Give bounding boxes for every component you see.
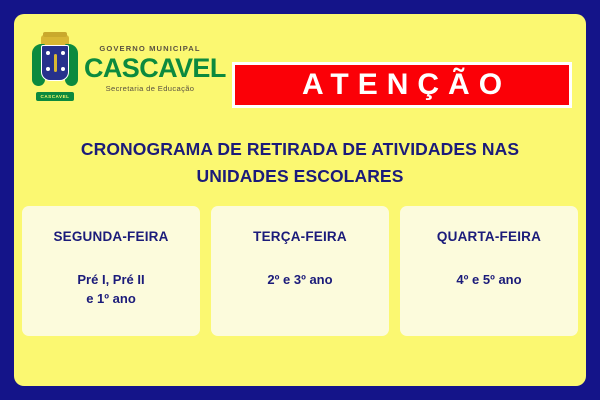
crest-ribbon-label: CASCAVEL (36, 92, 74, 101)
star-icon (46, 51, 50, 55)
schedule-cards-row: SEGUNDA-FEIRA Pré I, Pré II e 1º ano TER… (22, 206, 578, 336)
schedule-card-detail: 2º e 3º ano (217, 270, 383, 289)
brand-text: GOVERNO MUNICIPAL CASCAVEL Secretaria de… (84, 43, 216, 94)
page-title: CRONOGRAMA DE RETIRADA DE ATIVIDADES NAS… (14, 136, 586, 190)
schedule-card-day: QUARTA-FEIRA (406, 228, 572, 246)
schedule-card-quarta-feira: QUARTA-FEIRA 4º e 5º ano (400, 206, 578, 336)
star-icon (61, 51, 65, 55)
cascavel-coat-of-arms-icon: CASCAVEL (32, 35, 78, 101)
star-icon (46, 67, 50, 71)
department-line: Secretaria de Educação (84, 83, 216, 94)
schedule-card-detail: Pré I, Pré II e 1º ano (28, 270, 194, 308)
snake-icon (54, 54, 57, 72)
schedule-card-terca-feira: TERÇA-FEIRA 2º e 3º ano (211, 206, 389, 336)
star-icon (61, 67, 65, 71)
schedule-card-detail: 4º e 5º ano (406, 270, 572, 289)
brand-block: CASCAVEL GOVERNO MUNICIPAL CASCAVEL Secr… (32, 35, 228, 101)
attention-banner: ATENÇÃO (232, 62, 572, 108)
headline-line-1: CRONOGRAMA DE RETIRADA DE ATIVIDADES NAS (14, 136, 586, 163)
schedule-card-day: SEGUNDA-FEIRA (28, 228, 194, 246)
government-line: GOVERNO MUNICIPAL (84, 43, 216, 54)
poster-panel: CASCAVEL GOVERNO MUNICIPAL CASCAVEL Secr… (14, 14, 586, 386)
shield-icon (41, 45, 69, 81)
schedule-card-day: TERÇA-FEIRA (217, 228, 383, 246)
headline-line-2: UNIDADES ESCOLARES (14, 163, 586, 190)
poster-frame: CASCAVEL GOVERNO MUNICIPAL CASCAVEL Secr… (0, 0, 600, 400)
attention-label: ATENÇÃO (293, 70, 511, 100)
schedule-card-segunda-feira: SEGUNDA-FEIRA Pré I, Pré II e 1º ano (22, 206, 200, 336)
city-name: CASCAVEL (84, 54, 216, 83)
